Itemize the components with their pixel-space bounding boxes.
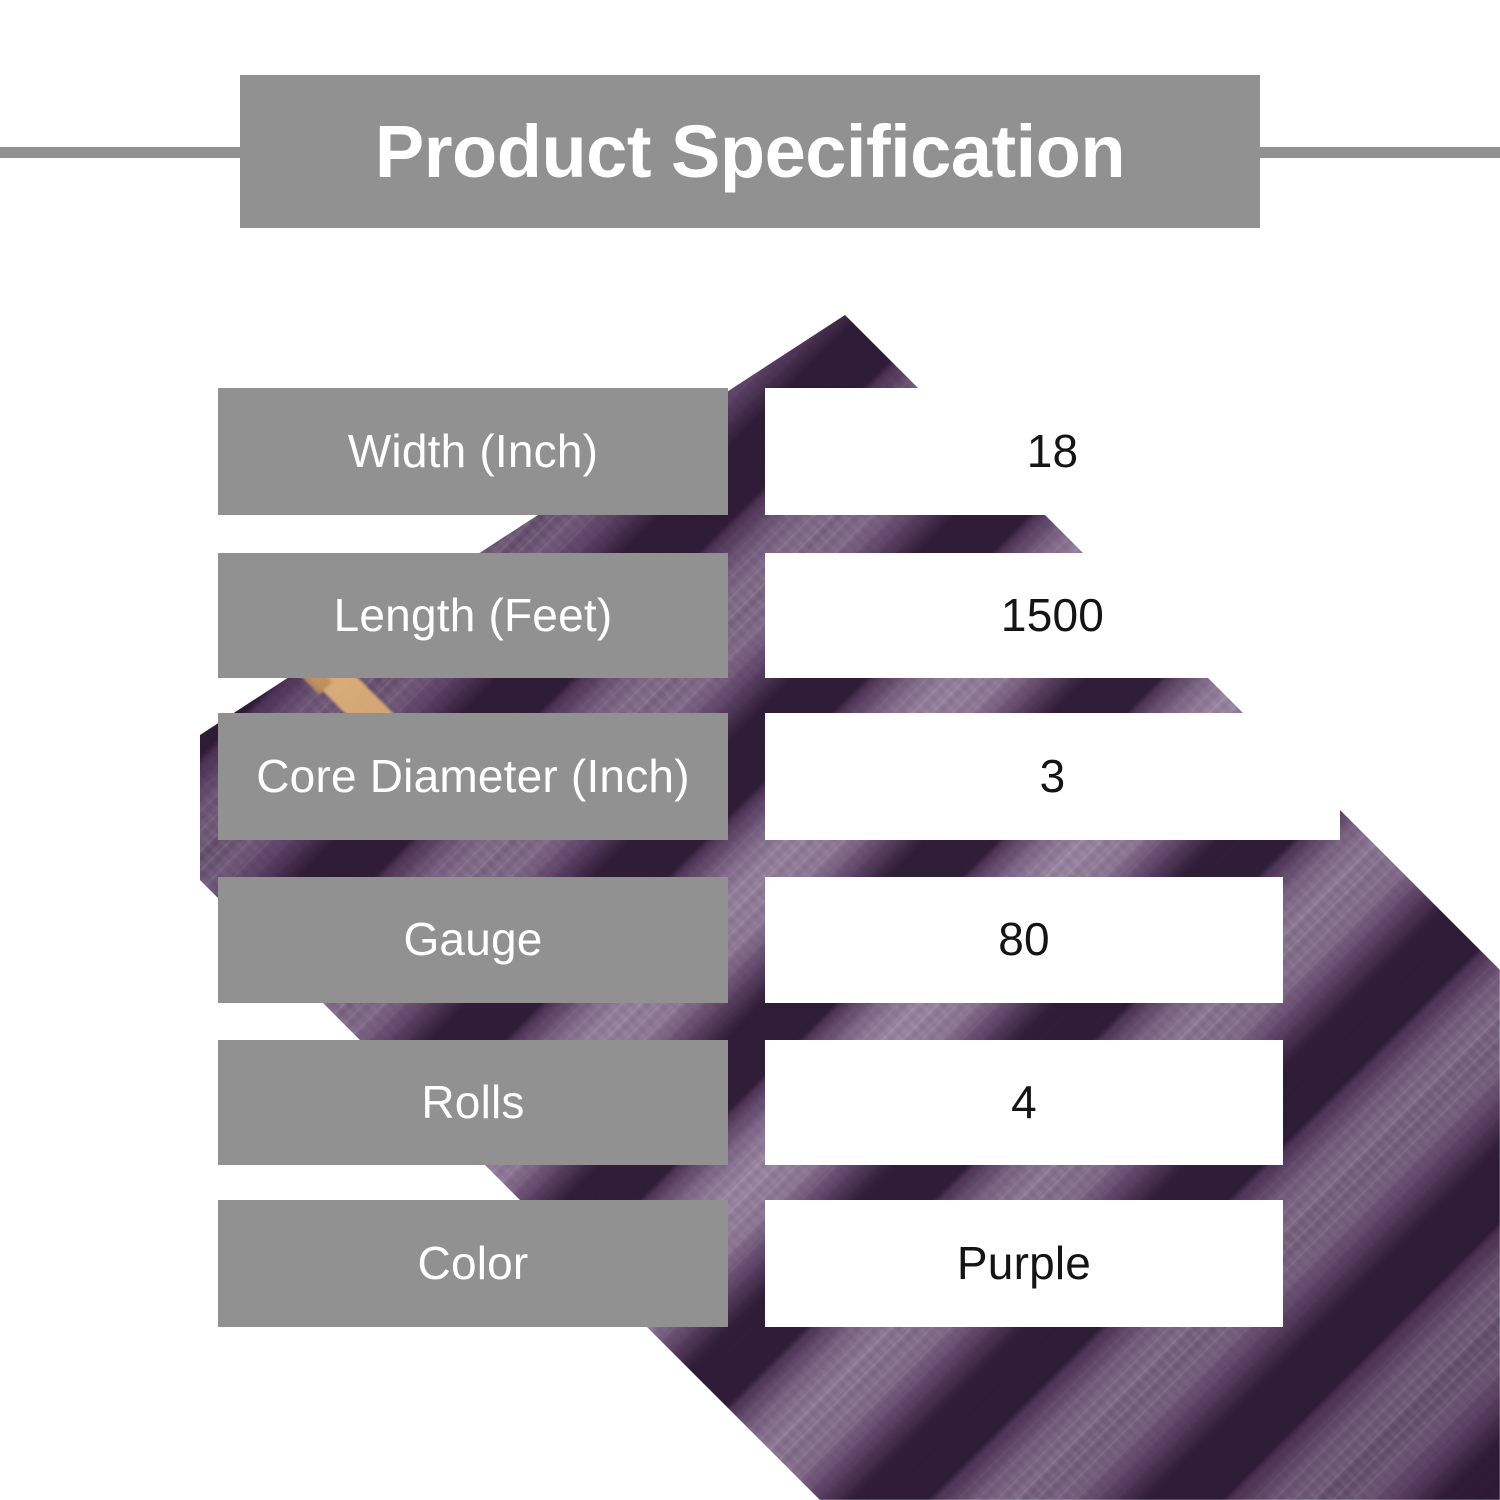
product-specification-table: Width (Inch)18Length (Feet)1500Core Diam… — [0, 0, 1500, 1500]
spec-value-cell: 3 — [765, 713, 1340, 840]
spec-value-cell: Purple — [765, 1200, 1283, 1327]
spec-label-cell: Gauge — [218, 877, 728, 1003]
spec-label-cell: Color — [218, 1200, 728, 1327]
spec-label-cell: Width (Inch) — [218, 388, 728, 515]
spec-label-cell: Length (Feet) — [218, 553, 728, 678]
spec-label-cell: Core Diameter (Inch) — [218, 713, 728, 840]
spec-value-cell: 1500 — [765, 553, 1340, 678]
spec-value-cell: 18 — [765, 388, 1340, 515]
spec-label-cell: Rolls — [218, 1040, 728, 1165]
spec-value-cell: 80 — [765, 877, 1283, 1003]
spec-value-cell: 4 — [765, 1040, 1283, 1165]
